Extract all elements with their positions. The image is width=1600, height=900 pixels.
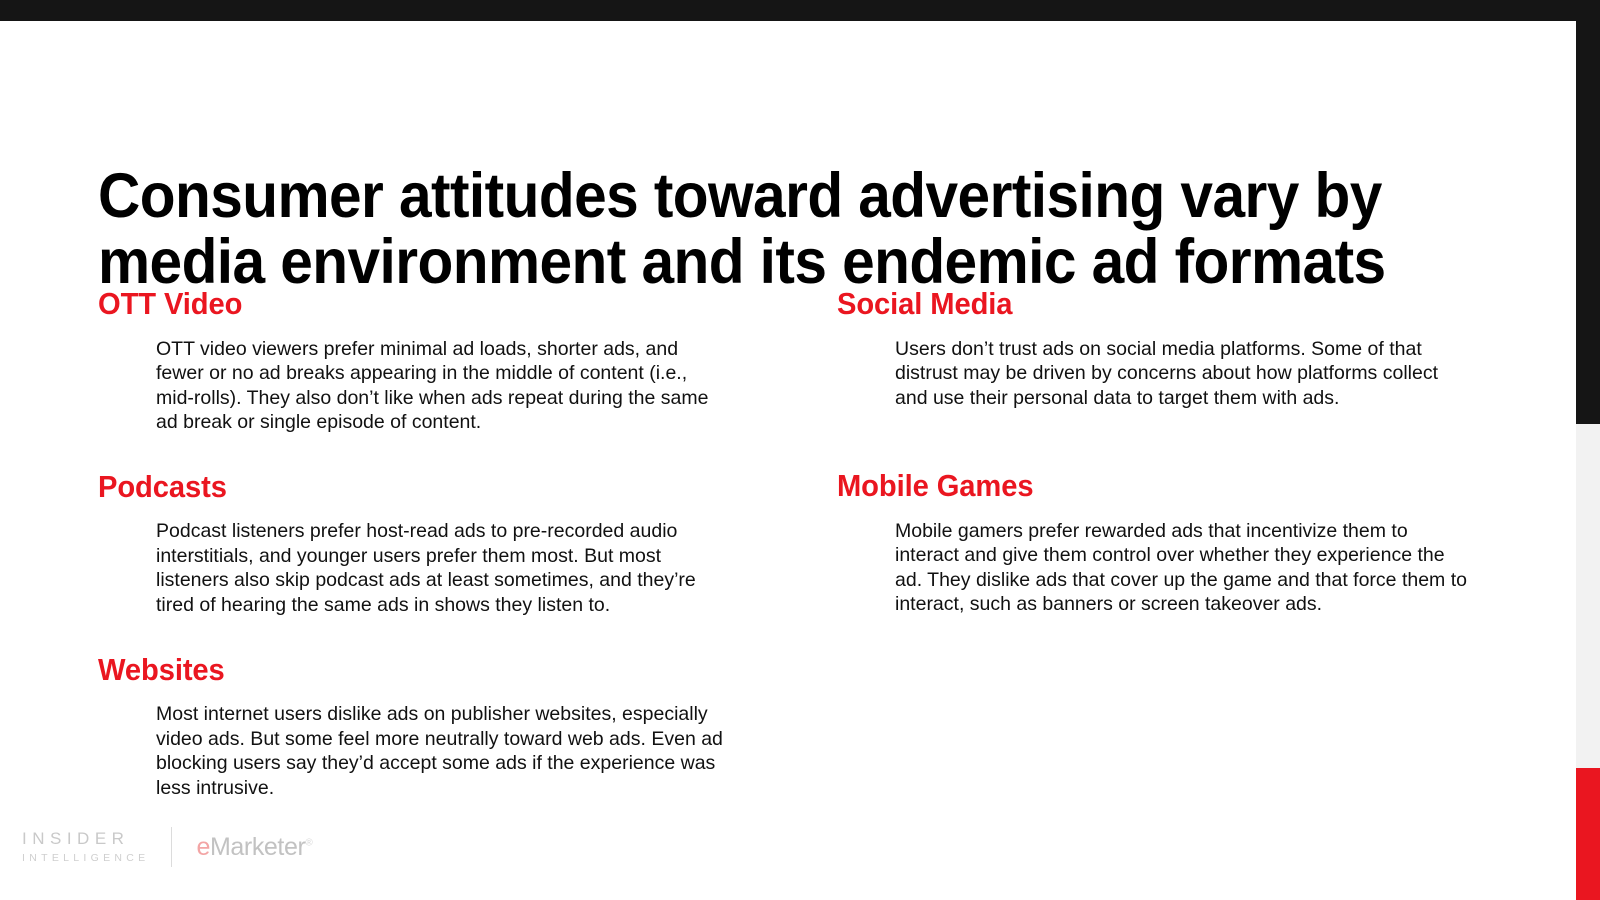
page-title: Consumer attitudes toward advertising va…	[98, 164, 1400, 295]
section-body-mobile-games: Mobile gamers prefer rewarded ads that i…	[837, 519, 1467, 617]
section-heading-ott-video: OTT Video	[98, 288, 690, 321]
insider-logo-line2: INTELLIGENCE	[22, 853, 149, 864]
right-edge-red-bar	[1576, 768, 1600, 900]
right-column-spacer	[837, 446, 1467, 470]
slide-canvas: Consumer attitudes toward advertising va…	[0, 0, 1600, 900]
left-column: OTT Video OTT video viewers prefer minim…	[98, 288, 728, 800]
section-body-podcasts: Podcast listeners prefer host-read ads t…	[98, 519, 728, 617]
top-decorative-band	[0, 0, 1600, 21]
section-heading-podcasts: Podcasts	[98, 471, 690, 504]
section-podcasts: Podcasts Podcast listeners prefer host-r…	[98, 471, 728, 618]
section-body-ott-video: OTT video viewers prefer minimal ad load…	[98, 337, 728, 435]
footer-logo: INSIDER INTELLIGENCE eMarketer®	[22, 824, 312, 870]
section-heading-mobile-games: Mobile Games	[837, 470, 1429, 503]
section-mobile-games: Mobile Games Mobile gamers prefer reward…	[837, 470, 1467, 617]
right-column: Social Media Users don’t trust ads on so…	[837, 288, 1467, 617]
insider-intelligence-logo: INSIDER INTELLIGENCE	[22, 830, 149, 864]
section-heading-websites: Websites	[98, 654, 690, 687]
emarketer-logo: eMarketer®	[196, 833, 312, 862]
section-social-media: Social Media Users don’t trust ads on so…	[837, 288, 1467, 410]
section-body-social-media: Users don’t trust ads on social media pl…	[837, 337, 1467, 411]
section-ott-video: OTT Video OTT video viewers prefer minim…	[98, 288, 728, 435]
emarketer-logo-e: e	[196, 833, 210, 861]
section-body-websites: Most internet users dislike ads on publi…	[98, 702, 728, 800]
logo-divider	[171, 827, 172, 867]
emarketer-logo-name: Marketer	[210, 833, 305, 861]
emarketer-logo-trademark: ®	[305, 837, 312, 848]
insider-logo-line1: INSIDER	[22, 830, 149, 847]
section-heading-social-media: Social Media	[837, 288, 1429, 321]
section-websites: Websites Most internet users dislike ads…	[98, 654, 728, 801]
right-edge-dark-bar	[1576, 0, 1600, 424]
right-edge-gray-bar	[1576, 424, 1600, 768]
